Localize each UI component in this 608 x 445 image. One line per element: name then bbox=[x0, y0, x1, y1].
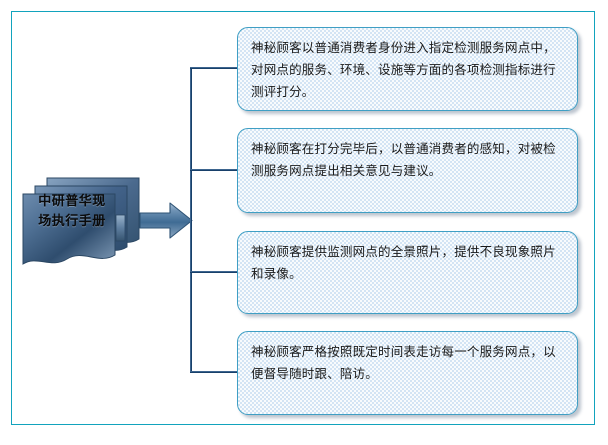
connector-vertical-trunk bbox=[190, 67, 192, 373]
note-box-2[interactable]: 神秘顾客在打分完毕后，以普通消费者的感知，对被检测服务网点提出相关意见与建议。 bbox=[237, 128, 578, 213]
connector-branch-2 bbox=[190, 169, 238, 171]
note-box-1-text: 神秘顾客以普通消费者身份进入指定检测服务网点中，对网点的服务、环境、设施等方面的… bbox=[251, 37, 564, 103]
connector-branch-4 bbox=[190, 371, 238, 373]
diagram-canvas: 中研普华现 场执行手册 神秘顾客以普通消费者身份进入指定检测服务网点中，对网点的… bbox=[0, 0, 608, 445]
flow-arrow bbox=[139, 201, 193, 240]
note-box-2-text: 神秘顾客在打分完毕后，以普通消费者的感知，对被检测服务网点提出相关意见与建议。 bbox=[251, 138, 564, 182]
connector-branch-3 bbox=[190, 271, 238, 273]
source-node-stacked-documents[interactable] bbox=[17, 177, 143, 273]
note-box-1[interactable]: 神秘顾客以普通消费者身份进入指定检测服务网点中，对网点的服务、环境、设施等方面的… bbox=[237, 27, 578, 111]
note-box-4-text: 神秘顾客严格按照既定时间表走访每一个服务网点，以便督导随时跟、陪访。 bbox=[251, 341, 564, 385]
note-box-3[interactable]: 神秘顾客提供监测网点的全景照片，提供不良现象照片和录像。 bbox=[237, 231, 578, 314]
note-box-3-text: 神秘顾客提供监测网点的全景照片，提供不良现象照片和录像。 bbox=[251, 241, 564, 285]
note-box-4[interactable]: 神秘顾客严格按照既定时间表走访每一个服务网点，以便督导随时跟、陪访。 bbox=[237, 331, 578, 415]
stacked-documents-icon bbox=[17, 177, 143, 273]
right-arrow-icon bbox=[139, 201, 193, 240]
connector-branch-1 bbox=[190, 67, 238, 69]
